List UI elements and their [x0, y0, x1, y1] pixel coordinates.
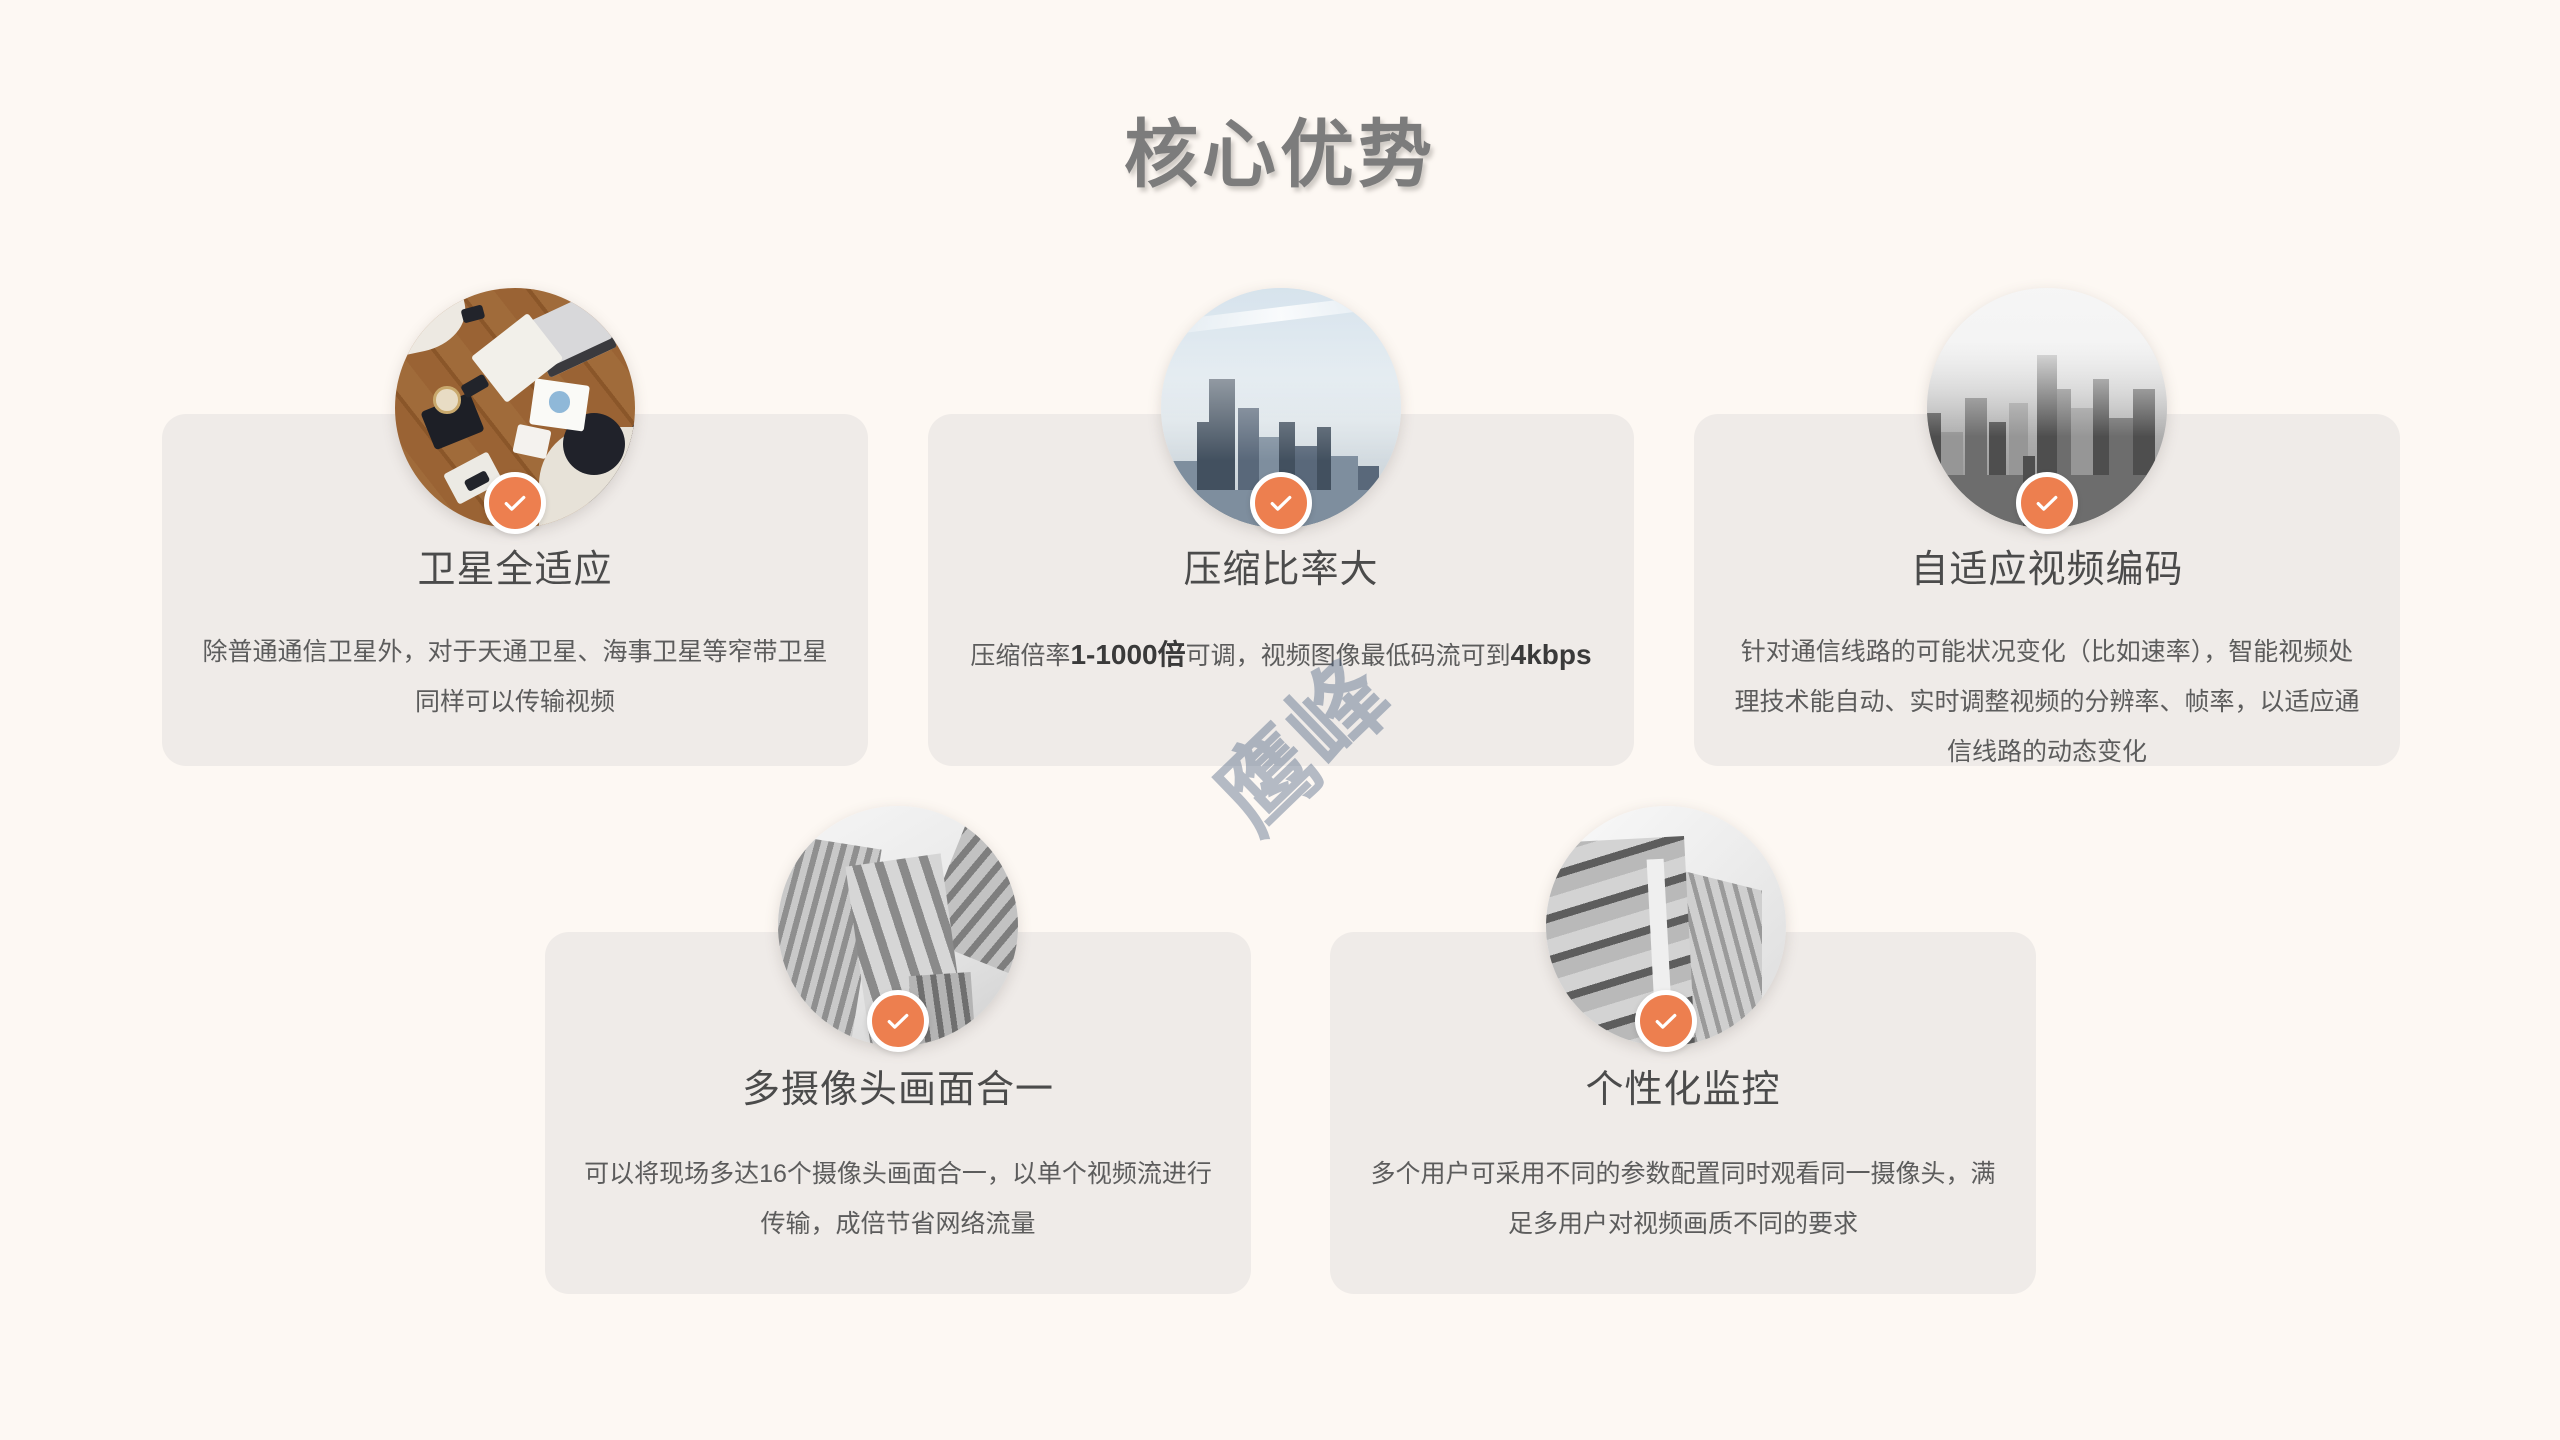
- check-circle-icon: [484, 472, 546, 534]
- check-circle-icon: [867, 990, 929, 1052]
- page-title: 核心优势: [0, 95, 2560, 202]
- blue-city-skyline-photo: [1161, 288, 1401, 528]
- core-advantages-page: 核心优势 卫星全适应 除普通通信卫星外，对于天通卫星、海事卫星等窄带卫星同样可以…: [0, 0, 2560, 1440]
- advantage-card-5-title: 个性化监控: [1585, 1058, 1780, 1113]
- check-circle-icon: [1250, 472, 1312, 534]
- advantage-card-2-title: 压缩比率大: [1183, 538, 1378, 593]
- advantage-card-3-title: 自适应视频编码: [1910, 538, 2183, 593]
- advantage-card-4-body: 可以将现场多达16个摄像头画面合一，以单个视频流进行传输，成倍节省网络流量: [545, 1149, 1251, 1249]
- advantage-card-5-body: 多个用户可采用不同的参数配置同时观看同一摄像头，满足多用户对视频画质不同的要求: [1330, 1149, 2036, 1249]
- glass-towers-upward-photo: [778, 806, 1018, 1046]
- check-circle-icon: [2016, 472, 2078, 534]
- advantage-card-2-body: 压缩倍率1-1000倍可调，视频图像最低码流可到4kbps: [928, 627, 1634, 683]
- meeting-table-photo: [395, 288, 635, 528]
- check-circle-icon: [1635, 990, 1697, 1052]
- advantage-card-1-title: 卫星全适应: [417, 538, 612, 593]
- grey-cityscape-photo: [1927, 288, 2167, 528]
- balcony-building-photo: [1546, 806, 1786, 1046]
- advantage-card-1-body: 除普通通信卫星外，对于天通卫星、海事卫星等窄带卫星同样可以传输视频: [162, 627, 868, 727]
- advantage-card-4-title: 多摄像头画面合一: [742, 1058, 1054, 1113]
- advantage-card-3-body: 针对通信线路的可能状况变化（比如速率），智能视频处理技术能自动、实时调整视频的分…: [1694, 627, 2400, 777]
